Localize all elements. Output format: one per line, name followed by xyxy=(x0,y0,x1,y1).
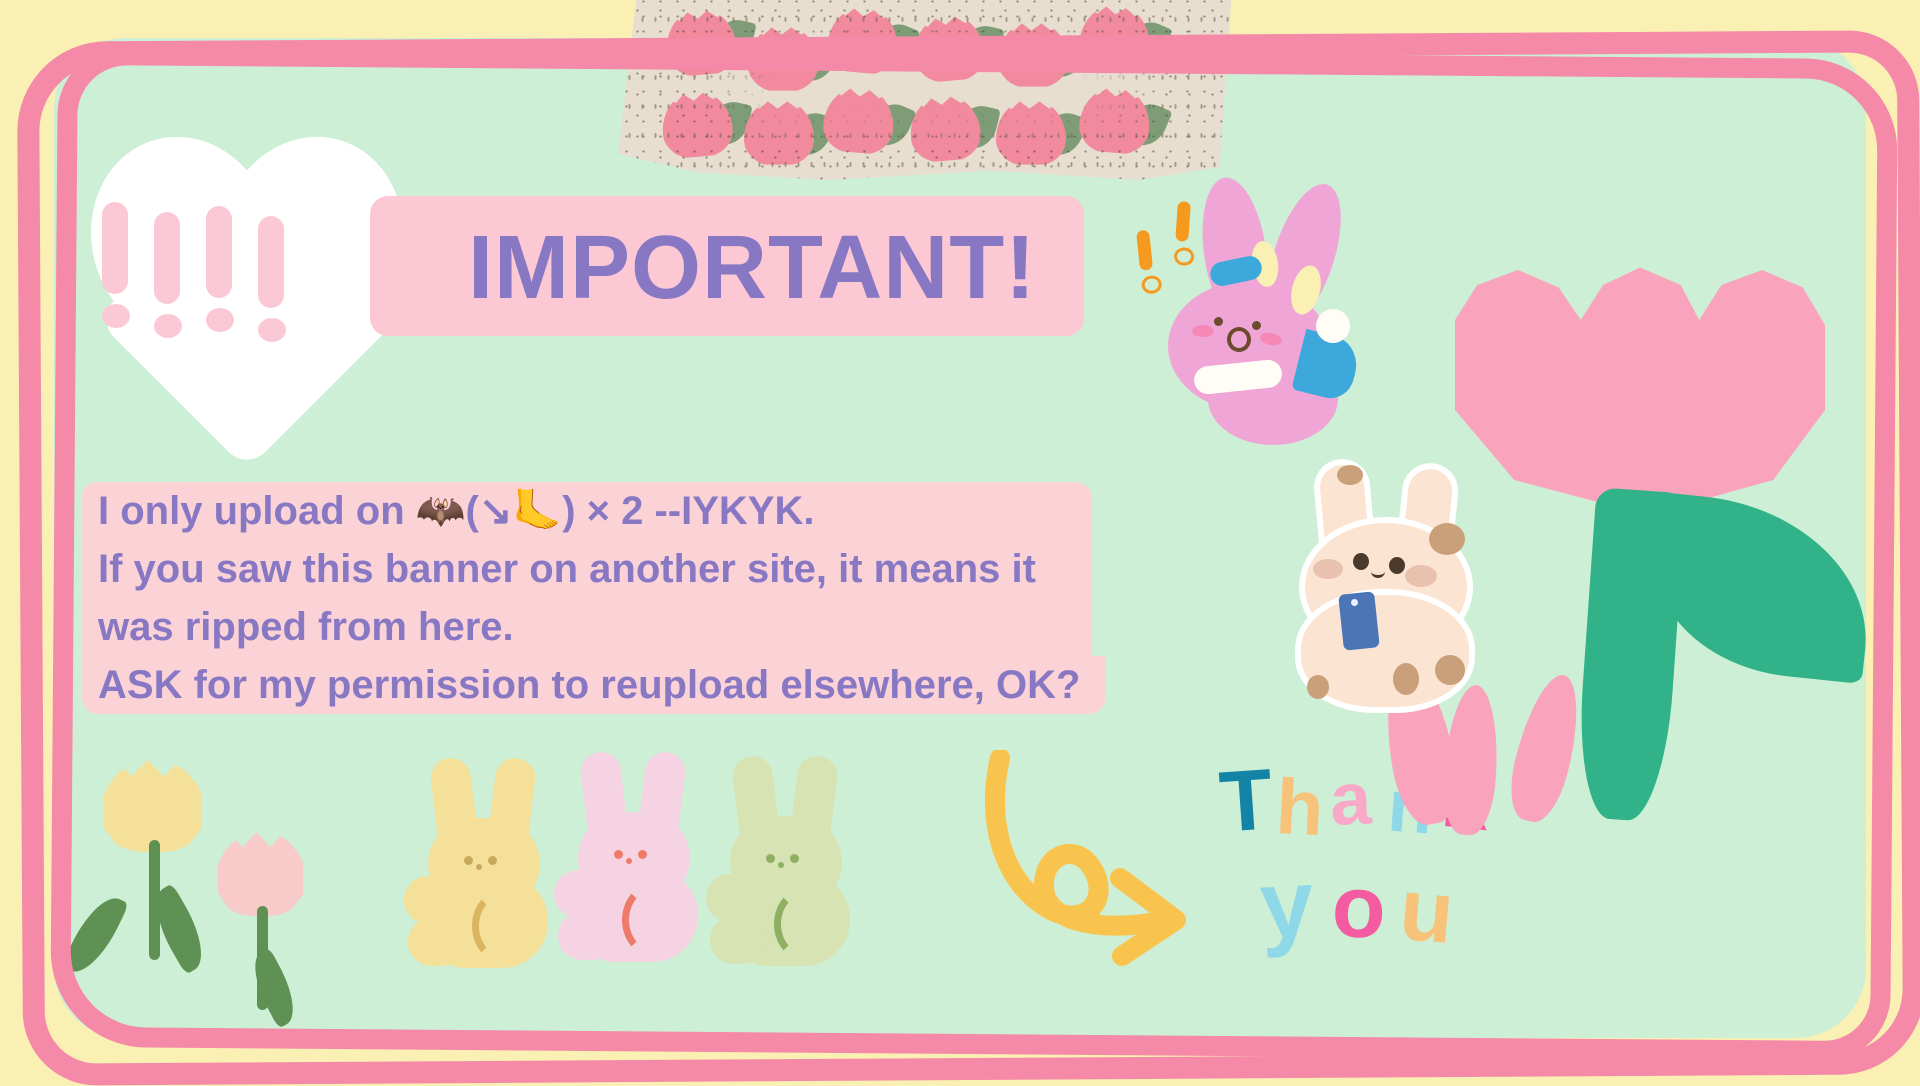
cream-bunny-with-phone xyxy=(1285,465,1500,715)
phone-icon xyxy=(1338,591,1380,650)
gummy-bunny-yellow xyxy=(410,758,560,968)
washi-tape-tulips xyxy=(618,0,1238,180)
notice-line-2-text: If you saw this banner on another site, … xyxy=(82,540,1052,598)
heart-exclaim-1 xyxy=(102,202,128,352)
heart-exclamation-marks xyxy=(102,202,352,352)
washi-speckle-texture xyxy=(618,0,1238,180)
gummy-bunny-green xyxy=(712,756,862,966)
banner-canvas: IMPORTANT! I only upload on 🦇(↘🦶) × 2 --… xyxy=(0,0,1920,1080)
notice-line-1-text: I only upload on 🦇(↘🦶) × 2 --IYKYK. xyxy=(82,482,830,540)
heart-exclaim-2 xyxy=(154,212,180,352)
notice-line-1: I only upload on 🦇(↘🦶) × 2 --IYKYK. xyxy=(82,482,1182,540)
notice-line-4-text: ASK for my permission to reupload elsewh… xyxy=(82,656,1096,714)
thank-you-letter-o: o xyxy=(1330,855,1387,959)
thank-you-letter-T: T xyxy=(1217,750,1276,852)
mini-tulip-yellow xyxy=(100,760,206,970)
notice-line-4: ASK for my permission to reupload elsewh… xyxy=(82,656,1182,714)
notice-line-2: If you saw this banner on another site, … xyxy=(82,540,1182,598)
notice-line-3: was ripped from here. xyxy=(82,598,1182,656)
page-title: IMPORTANT! xyxy=(468,208,1108,328)
flying-pink-bunny xyxy=(1148,185,1388,415)
notice-line-3-text: was ripped from here. xyxy=(82,598,530,656)
thank-you-letter-u: u xyxy=(1396,858,1458,964)
notice-paragraph: I only upload on 🦇(↘🦶) × 2 --IYKYK. If y… xyxy=(82,482,1182,714)
heart-exclaim-4 xyxy=(258,216,284,352)
thank-you-letter-h: h xyxy=(1274,761,1326,854)
big-pink-tulip xyxy=(1455,265,1855,845)
gummy-bunny-pink xyxy=(560,752,710,962)
thank-you-letter-a: a xyxy=(1329,755,1373,841)
thank-you-letter-y: y xyxy=(1257,849,1316,962)
heart-exclaim-3 xyxy=(206,206,232,352)
mini-tulip-pink xyxy=(215,832,307,1012)
